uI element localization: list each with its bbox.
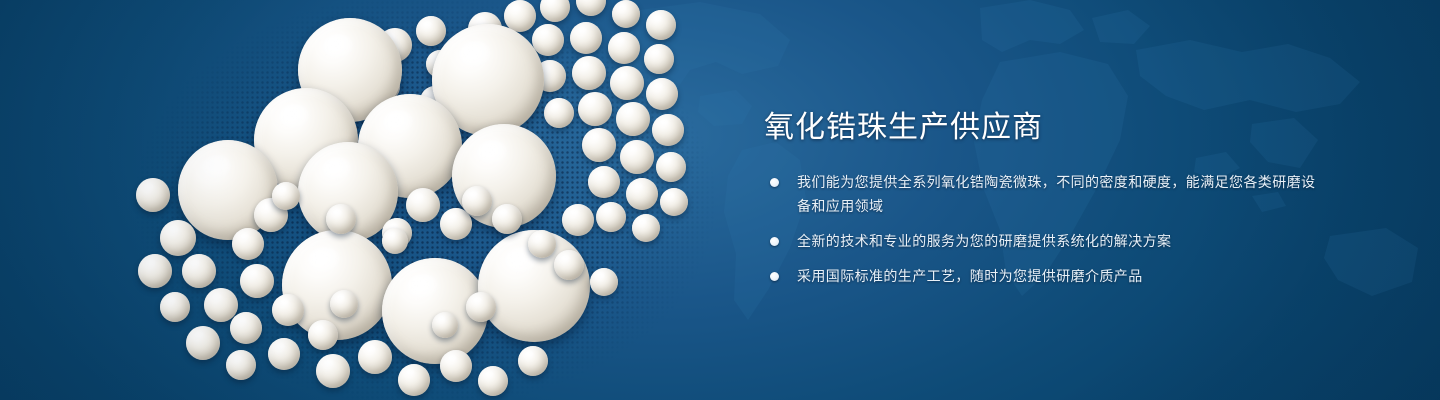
list-item: 我们能为您提供全系列氧化锆陶瓷微珠，不同的密度和硬度，能满足您各类研磨设备和应用…: [764, 170, 1324, 218]
hero-banner: 氧化锆珠生产供应商 我们能为您提供全系列氧化锆陶瓷微珠，不同的密度和硬度，能满足…: [0, 0, 1440, 400]
list-item-text: 我们能为您提供全系列氧化锆陶瓷微珠，不同的密度和硬度，能满足您各类研磨设备和应用…: [797, 174, 1315, 214]
halftone-dot-pattern-icon: [80, 0, 720, 400]
filled-circle-bullet-icon: [770, 272, 779, 281]
feature-list: 我们能为您提供全系列氧化锆陶瓷微珠，不同的密度和硬度，能满足您各类研磨设备和应用…: [764, 170, 1324, 288]
list-item-text: 采用国际标准的生产工艺，随时为您提供研磨介质产品: [797, 268, 1143, 284]
zirconia-ceramic-beads-photo: [130, 0, 770, 400]
list-item: 采用国际标准的生产工艺，随时为您提供研磨介质产品: [764, 264, 1324, 288]
banner-copy-block: 氧化锆珠生产供应商 我们能为您提供全系列氧化锆陶瓷微珠，不同的密度和硬度，能满足…: [764, 108, 1324, 288]
filled-circle-bullet-icon: [770, 237, 779, 246]
filled-circle-bullet-icon: [770, 178, 779, 187]
list-item: 全新的技术和专业的服务为您的研磨提供系统化的解决方案: [764, 229, 1324, 253]
page-title: 氧化锆珠生产供应商: [764, 108, 1324, 148]
photo-edge-fade: [80, 0, 740, 400]
list-item-text: 全新的技术和专业的服务为您的研磨提供系统化的解决方案: [797, 233, 1171, 249]
